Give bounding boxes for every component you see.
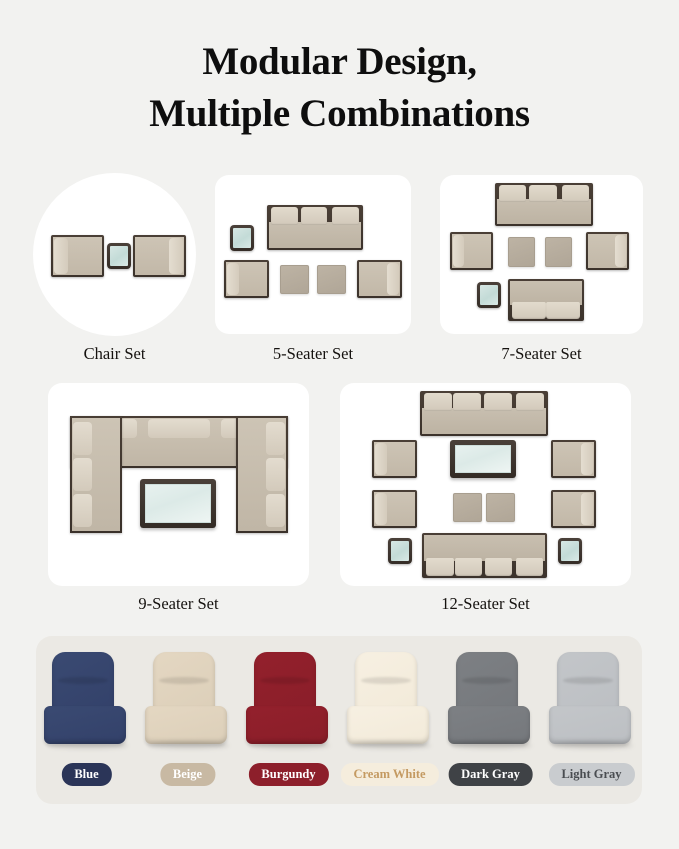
color-label-pill[interactable]: Light Gray: [548, 763, 634, 786]
cushion-backrest: [355, 652, 417, 714]
color-swatch[interactable]: Light Gray: [541, 636, 642, 804]
cushion-shadow: [452, 742, 532, 749]
cushion-shadow: [250, 742, 330, 749]
cushion-backrest: [153, 652, 215, 714]
infographic-page: Modular Design, Multiple Combinations Ch…: [0, 0, 679, 849]
cushion-seat: [246, 706, 328, 744]
layout-diagram-chair-set: [33, 173, 196, 336]
cushion-seat: [145, 706, 227, 744]
two-seat-sofa: [508, 279, 584, 321]
cushion-preview: [246, 652, 332, 748]
color-swatch[interactable]: Beige: [137, 636, 238, 804]
armchair: [551, 490, 596, 528]
cushion-preview: [347, 652, 433, 748]
armchair: [133, 235, 186, 277]
cushion-backrest: [557, 652, 619, 714]
cushion-shadow: [553, 742, 633, 749]
cushion-shadow: [48, 742, 128, 749]
title-line-1: Modular Design,: [202, 40, 476, 83]
cushion-shadow: [149, 742, 229, 749]
color-swatch[interactable]: Burgundy: [238, 636, 339, 804]
three-seat-sofa: [267, 205, 363, 250]
sectional-left-run: [70, 416, 122, 533]
cushion-backrest: [52, 652, 114, 714]
ottoman: [508, 237, 535, 267]
cushion-seat: [347, 706, 429, 744]
sectional-right-run: [236, 416, 288, 533]
color-swatch[interactable]: Dark Gray: [440, 636, 541, 804]
armchair: [357, 260, 402, 298]
ottoman: [453, 493, 482, 522]
cushion-preview: [549, 652, 635, 748]
color-label-pill[interactable]: Beige: [160, 763, 215, 786]
armchair: [450, 232, 493, 270]
cushion-preview: [44, 652, 130, 748]
cushion-backrest: [254, 652, 316, 714]
caption-7-seater: 7-Seater Set: [440, 344, 643, 364]
page-title: Modular Design, Multiple Combinations: [0, 36, 679, 140]
caption-chair-set: Chair Set: [18, 344, 211, 364]
cushion-preview: [448, 652, 534, 748]
armchair: [372, 490, 417, 528]
cushion-preview: [145, 652, 231, 748]
color-label-pill[interactable]: Cream White: [340, 763, 438, 786]
side-table: [388, 538, 412, 564]
color-label-pill[interactable]: Dark Gray: [448, 763, 533, 786]
four-seat-sofa: [420, 391, 548, 436]
color-label-pill[interactable]: Burgundy: [248, 763, 328, 786]
layout-diagram-5-seater: [215, 175, 411, 334]
glass-coffee-table: [450, 440, 516, 478]
armchair: [51, 235, 104, 277]
layout-diagram-9-seater: [48, 383, 309, 586]
title-line-2: Multiple Combinations: [0, 88, 679, 140]
color-swatch[interactable]: Cream White: [339, 636, 440, 804]
ottoman: [317, 265, 346, 294]
layout-diagram-12-seater: [340, 383, 631, 586]
layout-diagram-7-seater: [440, 175, 643, 334]
glass-coffee-table: [140, 479, 216, 528]
side-table: [107, 243, 131, 269]
cushion-seat: [549, 706, 631, 744]
config-card-12-seater[interactable]: [340, 383, 631, 586]
cushion-backrest: [456, 652, 518, 714]
ottoman: [545, 237, 572, 267]
armchair: [551, 440, 596, 478]
side-table: [477, 282, 501, 308]
four-seat-sofa: [422, 533, 547, 578]
caption-5-seater: 5-Seater Set: [215, 344, 411, 364]
caption-12-seater: 12-Seater Set: [340, 594, 631, 614]
config-card-chair-set[interactable]: [33, 173, 196, 336]
cushion-seat: [44, 706, 126, 744]
config-card-9-seater[interactable]: [48, 383, 309, 586]
armchair: [224, 260, 269, 298]
ottoman: [280, 265, 309, 294]
cushion-seat: [448, 706, 530, 744]
ottoman: [486, 493, 515, 522]
config-card-7-seater[interactable]: [440, 175, 643, 334]
color-swatch-row: BlueBeigeBurgundyCream WhiteDark GrayLig…: [36, 636, 642, 804]
color-options-panel: BlueBeigeBurgundyCream WhiteDark GrayLig…: [36, 636, 642, 804]
three-seat-sofa: [495, 183, 593, 226]
armchair: [586, 232, 629, 270]
config-card-5-seater[interactable]: [215, 175, 411, 334]
cushion-shadow: [351, 742, 431, 749]
armchair: [372, 440, 417, 478]
side-table: [558, 538, 582, 564]
color-label-pill[interactable]: Blue: [61, 763, 111, 786]
color-swatch[interactable]: Blue: [36, 636, 137, 804]
side-table: [230, 225, 254, 251]
caption-9-seater: 9-Seater Set: [48, 594, 309, 614]
